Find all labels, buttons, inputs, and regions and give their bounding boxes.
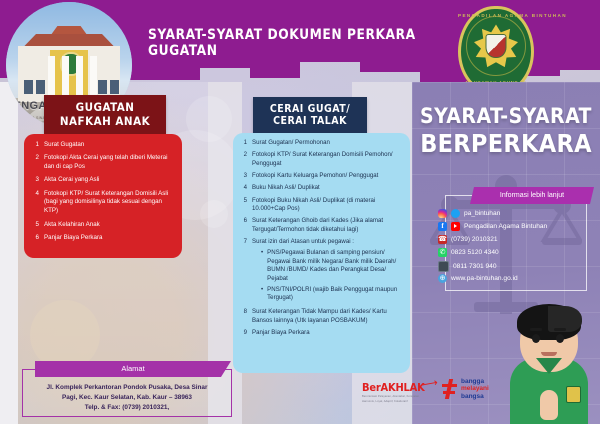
- berakhlak-logo: BerAKHLAK ⟶ Berorientasi Pelayanan, Akun…: [362, 381, 425, 404]
- list-item-number: 4: [31, 190, 39, 199]
- photo-window: [36, 80, 45, 94]
- contact-text: Pengadilan Agama Bintuhan: [464, 223, 547, 230]
- list-item-number: 5: [31, 221, 39, 230]
- berakhlak-wordmark: BerAKHLAK: [362, 381, 425, 394]
- contact-row-whatsapp[interactable]: ✆0823 5120 4340: [438, 248, 499, 257]
- instagram-icon[interactable]: [438, 209, 447, 218]
- list-item: 8Surat Keterangan Tidak Mampu dari Kades…: [240, 308, 402, 325]
- list-item: 5Fotokopi Buku Nikah Asli/ Duplikat (di …: [240, 197, 402, 214]
- card-blue-body: 1Surat Gugatan/ Permohonan2Fotokopi KTP/…: [233, 133, 410, 373]
- list-sub-item: •PNS/TNI/POLRI (wajib Baik Penggugat mau…: [261, 286, 402, 303]
- panel-title-line1: SYARAT-SYARAT: [412, 104, 600, 128]
- list-item-number: 1: [31, 141, 39, 150]
- list-item: 6Panjar Biaya Perkara: [31, 234, 173, 243]
- address-line-1: Jl. Komplek Perkantoran Pondok Pusaka, D…: [27, 383, 227, 393]
- card-blue-header: CERAI GUGAT/ CERAI TALAK: [253, 97, 367, 135]
- mascot-eyebrow: [554, 328, 566, 331]
- list-item-text: Fotokopi KTP/ Surat Keterangan Domisili …: [44, 190, 173, 217]
- mascot-eye: [532, 334, 540, 343]
- whatsapp-icon[interactable]: ✆: [438, 248, 447, 257]
- address-box: Alamat Jl. Komplek Perkantoran Pondok Pu…: [22, 369, 232, 417]
- bangga-melayani-bangsa-logo: bangga melayani bangsa: [442, 378, 489, 400]
- list-item: 7Surat izin dari Atasan untuk pegawai :•…: [240, 238, 402, 304]
- contact-text: (0739) 2010321: [451, 236, 498, 243]
- list-item-number: 9: [240, 329, 247, 338]
- photo-window: [24, 80, 33, 94]
- mascot-mouth: [541, 352, 557, 356]
- contact-row-website[interactable]: ⊕www.pa-bintuhan.go.id: [438, 274, 518, 283]
- card-blue-title-line2: CERAI TALAK: [257, 115, 363, 127]
- list-item-text: Surat Keterangan Tidak Mampu dari Kades/…: [252, 308, 402, 325]
- bullet-icon: •: [261, 249, 263, 258]
- card-blue-list: 1Surat Gugatan/ Permohonan2Fotokopi KTP/…: [233, 133, 410, 338]
- decorative-bubble: [186, 96, 232, 142]
- list-item-text: Buku Nikah Asli/ Duplikat: [252, 184, 320, 193]
- contact-text: www.pa-bintuhan.go.id: [451, 275, 518, 282]
- list-sub-item: •PNS/Pegawai Bulanan di samping pensiun/…: [261, 249, 402, 284]
- decorative-bubble: [200, 200, 228, 228]
- photo-window: [98, 80, 107, 94]
- list-item-text: Surat Keterangan Ghoib dari Kades (Jika …: [252, 217, 402, 234]
- background-left-strip: [0, 82, 18, 424]
- infographic-canvas: SYARAT-SYARAT DOKUMEN PERKARA GUGATAN PE…: [0, 0, 600, 424]
- list-item-number: 3: [240, 172, 247, 181]
- list-item-text: Fotokopi Akta Cerai yang telah diberi Me…: [44, 154, 173, 172]
- card-blue-title-line1: CERAI GUGAT/: [257, 103, 363, 115]
- info-banner-label: Informasi lebih lanjut: [470, 187, 594, 204]
- list-item-number: 1: [240, 139, 247, 148]
- panel-title-line2: BERPERKARA: [412, 129, 600, 158]
- mascot-hands: [540, 390, 558, 420]
- list-item-text: Panjar Biaya Perkara: [44, 234, 102, 243]
- list-item-number: 2: [240, 151, 247, 160]
- contact-row-phone[interactable]: ☎(0739) 2010321: [438, 235, 498, 244]
- card-red-list: 1Surat Gugatan2Fotokopi Akta Cerai yang …: [24, 134, 182, 243]
- contact-info-box: Informasi lebih lanjut pa_bintuhanfPenga…: [445, 195, 587, 291]
- list-sub-item-text: PNS/TNI/POLRI (wajib Baik Penggugat maup…: [267, 286, 402, 303]
- telephone-icon[interactable]: ☎: [438, 235, 447, 244]
- card-red-title-line1: GUGATAN: [48, 101, 162, 115]
- list-item-number: 6: [240, 217, 247, 226]
- card-red-body: 1Surat Gugatan2Fotokopi Akta Cerai yang …: [24, 134, 182, 258]
- card-red-header: GUGATAN NAFKAH ANAK: [44, 95, 166, 135]
- mascot-eyebrow: [530, 328, 542, 331]
- list-item: 4Fotokopi KTP/ Surat Keterangan Domisili…: [31, 190, 173, 217]
- list-item: 2Fotokopi Akta Cerai yang telah diberi M…: [31, 154, 173, 172]
- list-sub-item-text: PNS/Pegawai Bulanan di samping pensiun/ …: [267, 249, 402, 284]
- address-line-2: Pagi, Kec. Kaur Selatan, Kab. Kaur – 389…: [27, 393, 227, 403]
- mascot-badge: [566, 386, 581, 403]
- list-item-number: 7: [240, 238, 247, 247]
- decorative-bubble: [30, 300, 100, 370]
- contact-text: pa_bintuhan: [464, 210, 500, 217]
- berakhlak-arrow-icon: ⟶: [421, 376, 439, 392]
- list-item-text: Akta Cerai yang Asli: [44, 176, 99, 185]
- address-line-3: Telp. & Fax: (0739) 2010321,: [27, 403, 227, 413]
- list-item-text: Surat Gugatan: [44, 141, 84, 150]
- facebook-icon[interactable]: f: [438, 222, 447, 231]
- contact-text: 0823 5120 4340: [451, 249, 499, 256]
- list-item: 1Surat Gugatan: [31, 141, 173, 150]
- list-item-text: Fotokopi Kartu Keluarga Pemohon/ Penggug…: [252, 172, 378, 181]
- list-item-number: 4: [240, 184, 247, 193]
- address-text: Jl. Komplek Perkantoran Pondok Pusaka, D…: [27, 383, 227, 413]
- bangga-wordmark: bangga melayani bangsa: [461, 378, 489, 400]
- address-banner-label: Alamat: [35, 361, 231, 377]
- list-item-text: Surat Gugatan/ Permohonan: [252, 139, 330, 148]
- list-item: 9Panjar Biaya Perkara: [240, 329, 402, 338]
- list-item-number: 8: [240, 308, 247, 317]
- list-item: 3Akta Cerai yang Asli: [31, 176, 173, 185]
- list-item: 5Akta Kelahiran Anak: [31, 221, 173, 230]
- mobile-phone-icon[interactable]: [438, 261, 449, 272]
- contact-row-social-1[interactable]: pa_bintuhan: [438, 209, 500, 218]
- mascot-eye: [556, 334, 564, 343]
- berakhlak-tagline-1: Berorientasi Pelayanan, Akuntabel, Kompe…: [362, 395, 425, 399]
- seal-shield-icon: [486, 34, 507, 58]
- list-item-text: Fotokopi Buku Nikah Asli/ Duplikat (di m…: [252, 197, 402, 214]
- list-item-number: 6: [31, 234, 39, 243]
- photo-window: [110, 80, 119, 94]
- list-item: 1Surat Gugatan/ Permohonan: [240, 139, 402, 148]
- list-item-number: 2: [31, 154, 39, 163]
- contact-text: 0811 7301 940: [453, 263, 497, 270]
- globe-icon[interactable]: ⊕: [438, 274, 447, 283]
- bangga-mark-icon: [442, 379, 458, 399]
- seal-top-text: PENGADILAN AGAMA BINTUHAN: [458, 13, 534, 18]
- list-item-text: Fotokopi KTP/ Surat Keterangan Domisili …: [252, 151, 402, 168]
- youtube-icon[interactable]: [451, 222, 460, 231]
- footer-logos: BerAKHLAK ⟶ Berorientasi Pelayanan, Akun…: [362, 378, 522, 408]
- bangga-line-3: bangsa: [461, 393, 489, 400]
- card-red-title-line2: NAFKAH ANAK: [48, 115, 162, 129]
- bullet-icon: •: [261, 286, 263, 295]
- list-item-number: 5: [240, 197, 247, 206]
- list-item-text: Akta Kelahiran Anak: [44, 221, 100, 230]
- list-item-number: 3: [31, 176, 39, 185]
- twitter-icon[interactable]: [451, 209, 460, 218]
- berakhlak-tagline-2: Harmonis, Loyal, Adaptif, Kolaboratif: [362, 400, 425, 404]
- court-seal-logo: PENGADILAN AGAMA BINTUHAN MAHKAMAH AGUNG…: [458, 6, 534, 94]
- list-item-text: Panjar Biaya Perkara: [252, 329, 310, 338]
- list-item-text: Surat izin dari Atasan untuk pegawai :•P…: [252, 238, 402, 304]
- list-item: 3Fotokopi Kartu Keluarga Pemohon/ Penggu…: [240, 172, 402, 181]
- list-item: 2Fotokopi KTP/ Surat Keterangan Domisili…: [240, 151, 402, 168]
- list-sub-items: •PNS/Pegawai Bulanan di samping pensiun/…: [252, 249, 402, 303]
- bangga-line-2: melayani: [461, 385, 489, 392]
- list-item: 4Buku Nikah Asli/ Duplikat: [240, 184, 402, 193]
- bangga-line-1: bangga: [461, 378, 489, 385]
- contact-row-social-2[interactable]: fPengadilan Agama Bintuhan: [438, 222, 547, 231]
- contact-row-mobile[interactable]: 0811 7301 940: [438, 261, 497, 272]
- page-title: SYARAT-SYARAT DOKUMEN PERKARA GUGATAN: [148, 28, 430, 60]
- list-item: 6Surat Keterangan Ghoib dari Kades (Jika…: [240, 217, 402, 234]
